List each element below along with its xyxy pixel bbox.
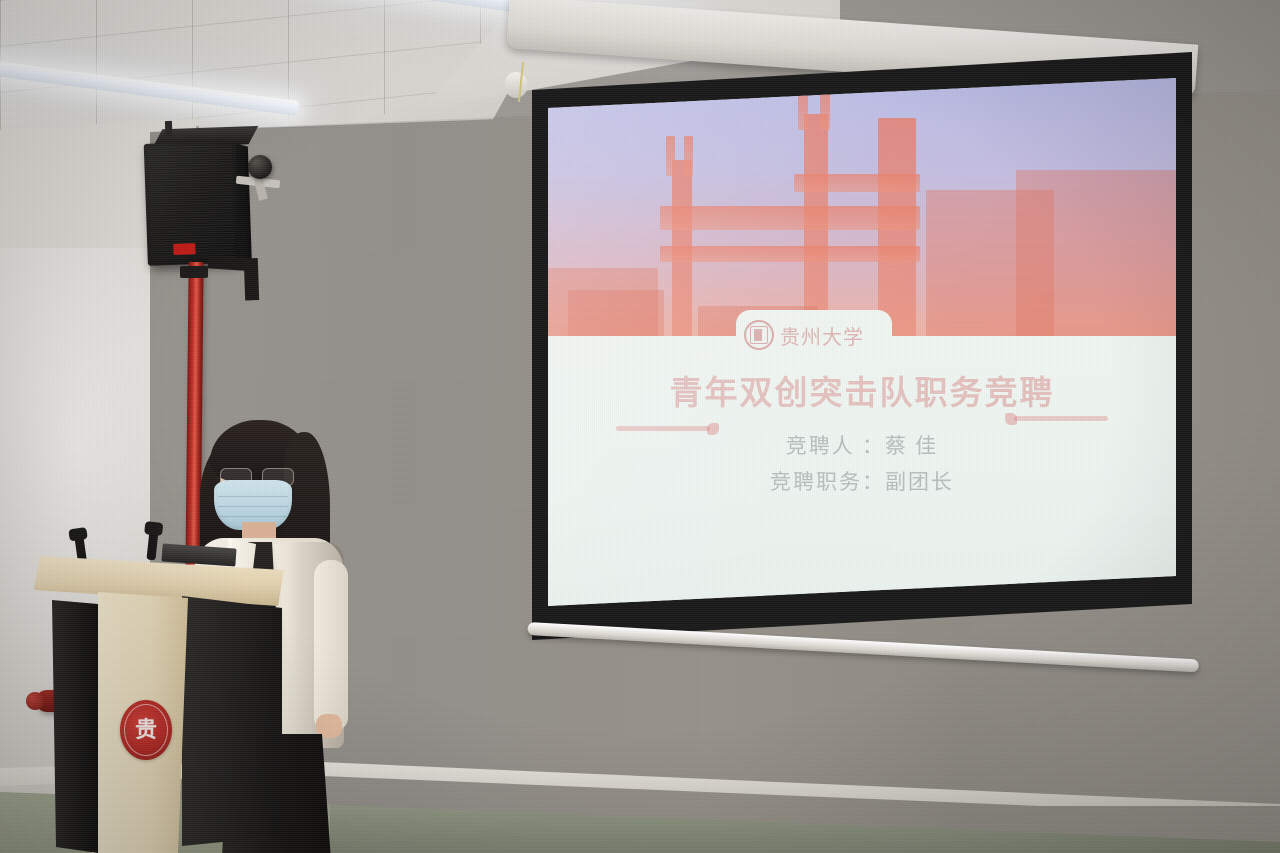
presentation-slide: 贵州大学 青年双创突击队职务竞聘 竞聘人 ：蔡 佳 竞聘职务：副团长 (548, 78, 1176, 606)
speaker-mount-arm (244, 258, 259, 300)
camera-sensor-icon (248, 155, 272, 179)
university-logo-text: 贵州大学 (780, 321, 864, 350)
slide-university-logo: 贵州大学 (744, 316, 894, 354)
decorative-arrow-right-icon (1014, 416, 1108, 421)
slide-title: 青年双创突击队职务竞聘 (548, 366, 1176, 414)
screen-roller-end-cap (505, 72, 527, 98)
laptop-icon[interactable] (161, 543, 236, 566)
speaker-body (144, 141, 240, 266)
slide-position-line: 竞聘职务：副团长 (548, 466, 1176, 496)
podium-leg (52, 600, 98, 853)
projection-screen-surface[interactable]: 贵州大学 青年双创突击队职务竞聘 竞聘人 ：蔡 佳 竞聘职务：副团长 (548, 78, 1176, 606)
emblem-character: 贵 (135, 719, 157, 741)
podium-side-panel (182, 596, 282, 846)
speaker-hanger (165, 121, 173, 137)
university-seal-icon (744, 320, 774, 350)
speaker-brand-logo-icon (173, 243, 195, 255)
podium: 贵 (34, 556, 284, 853)
lecture-room-photo: 贵州大学 青年双创突击队职务竞聘 竞聘人 ：蔡 佳 竞聘职务：副团长 (0, 0, 1280, 853)
university-emblem-icon: 贵 (120, 700, 172, 760)
microphone-icon[interactable] (146, 530, 158, 561)
right-arm (314, 560, 348, 730)
pipe-clamp (180, 266, 208, 278)
wall-speaker (144, 140, 257, 279)
slide-candidate-line: 竞聘人 ：蔡 佳 (548, 430, 1176, 460)
